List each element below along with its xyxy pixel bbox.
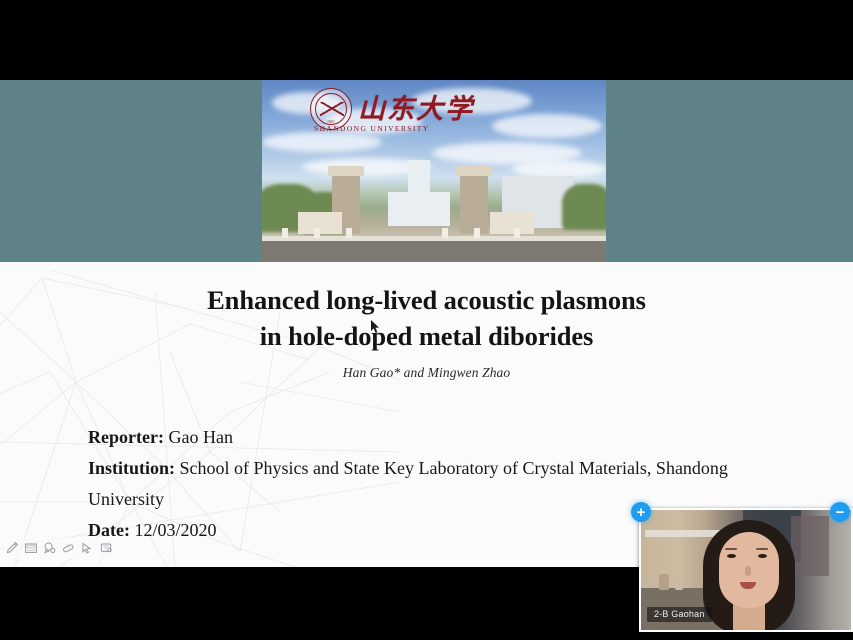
- screen-note-icon[interactable]: [98, 540, 114, 556]
- participant-name-label: 2-B Gaohan: [647, 607, 712, 622]
- meta-value-institution: School of Physics and State Key Laborato…: [88, 458, 728, 509]
- pointer-icon[interactable]: [79, 540, 95, 556]
- meta-label-reporter: Reporter:: [88, 427, 164, 447]
- eraser-icon[interactable]: [60, 540, 76, 556]
- annotation-toolbar[interactable]: [0, 537, 118, 558]
- campus-photo: 1901 山东大学 SHANDONG UNIVERSITY: [262, 80, 606, 262]
- webcam-background-object-2: [791, 516, 829, 576]
- webcam-desk-object-2: [675, 578, 683, 590]
- text-box-icon[interactable]: [23, 540, 39, 556]
- webcam-person-nose: [745, 566, 751, 576]
- logo-chinese-name: 山东大学: [358, 96, 474, 123]
- minimize-video-button[interactable]: −: [830, 502, 850, 522]
- meta-value-reporter: Gao Han: [168, 427, 232, 447]
- stamp-icon[interactable]: [42, 540, 58, 556]
- logo-english-name: SHANDONG UNIVERSITY: [314, 124, 430, 133]
- pen-icon[interactable]: [4, 540, 20, 556]
- webcam-person-brow-left: [725, 548, 737, 550]
- slide-title-line-2: in hole-doped metal diborides: [0, 318, 853, 354]
- meta-row-reporter: Reporter: Gao Han: [88, 422, 788, 453]
- webcam-person-eye-left: [727, 554, 736, 558]
- webcam-thumbnail[interactable]: 2-B Gaohan: [639, 508, 853, 632]
- slide-authors: Han Gao* and Mingwen Zhao: [0, 365, 853, 381]
- meta-value-date: 12/03/2020: [134, 520, 216, 540]
- shared-slide[interactable]: 1901 山东大学 SHANDONG UNIVERSITY: [0, 80, 853, 567]
- slide-title: Enhanced long-lived acoustic plasmons in…: [0, 282, 853, 354]
- screen-share-window: 1901 山东大学 SHANDONG UNIVERSITY: [0, 0, 853, 640]
- add-video-button[interactable]: +: [631, 502, 651, 522]
- slide-title-line-1: Enhanced long-lived acoustic plasmons: [0, 282, 853, 318]
- meta-row-institution: Institution: School of Physics and State…: [88, 453, 788, 515]
- meta-label-institution: Institution:: [88, 458, 175, 478]
- webcam-person-brow-right: [756, 548, 768, 550]
- webcam-person-eye-right: [758, 554, 767, 558]
- webcam-desk-object: [659, 574, 669, 590]
- mouse-cursor-icon: [371, 320, 381, 334]
